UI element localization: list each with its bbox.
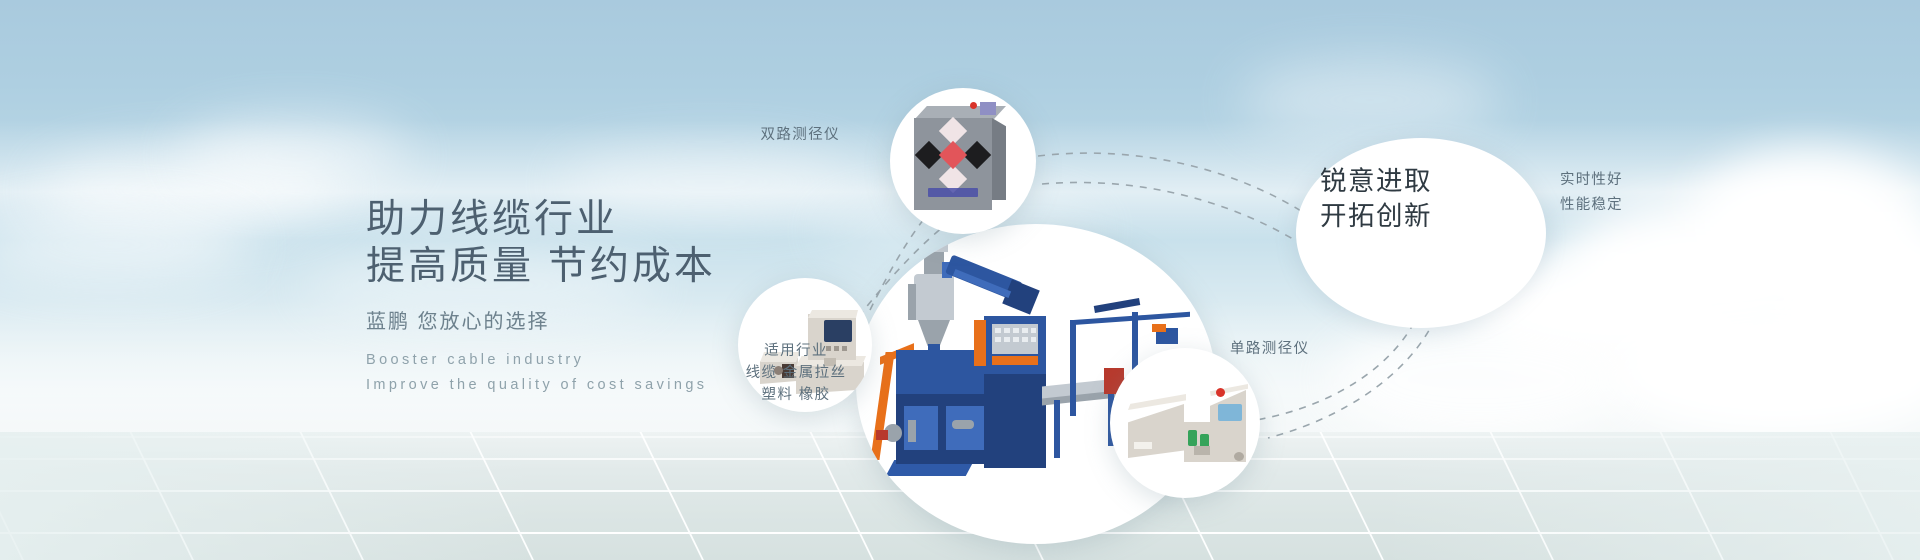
industries-title: 适用行业: [716, 340, 876, 362]
label-dual-gauge: 双路测径仪: [700, 124, 840, 146]
feature-item-1: 实时性好: [1560, 168, 1623, 193]
label-single-gauge: 单路测径仪: [1230, 338, 1390, 360]
feature-item-2: 性能稳定: [1560, 193, 1623, 218]
industries-line-2: 塑料 橡胶: [716, 384, 876, 406]
single-gauge-bubble[interactable]: [1110, 348, 1260, 498]
product-cluster: 锐意进取 开拓创新 实时性好 性能稳定: [720, 60, 1920, 530]
floor-line-v: [0, 432, 49, 560]
floor-line-v: [450, 432, 559, 560]
label-industries: 适用行业 线缆 金属拉丝 塑料 橡胶: [716, 340, 876, 406]
dual-gauge-illustration: [890, 88, 1036, 234]
feature-list: 实时性好 性能稳定: [1560, 168, 1623, 218]
dual-gauge-bubble[interactable]: [890, 88, 1036, 234]
cloud-left-2: [180, 120, 410, 190]
single-gauge-illustration: [1110, 348, 1260, 498]
floor-line-v: [280, 432, 389, 560]
floor-line-v: [620, 432, 729, 560]
floor-line-v: [110, 432, 219, 560]
headline-line-1: 助力线缆行业: [366, 198, 618, 241]
slogan-line-2: 开拓创新: [1320, 199, 1530, 234]
industries-line-1: 线缆 金属拉丝: [716, 362, 876, 384]
slogan-line-1: 锐意进取: [1320, 164, 1530, 199]
slogan-text: 锐意进取 开拓创新: [1320, 164, 1530, 234]
promo-banner: 助力线缆行业 提高质量 节约成本 蓝鹏 您放心的选择 Booster cable…: [0, 0, 1920, 560]
